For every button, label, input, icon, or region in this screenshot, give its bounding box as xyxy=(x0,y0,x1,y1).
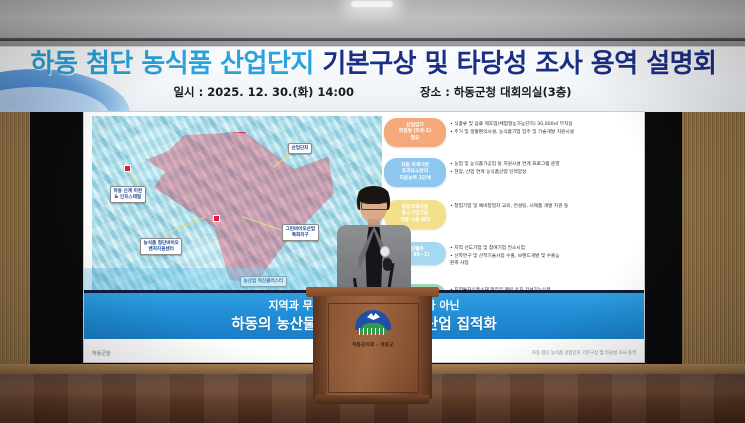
podium: 하동군의회 - 하동군 xyxy=(306,287,439,407)
map-label-2: 그린바이오산업 특화지구 xyxy=(282,224,319,241)
row-bullets: • 식품류 및 음료 제조업(체험형농가능단지) 30,000㎡ 부지용 • 주… xyxy=(450,118,640,136)
map-marker-2 xyxy=(213,215,220,222)
row-bullets: • 지역 선도기업 및 참여기업 컨소시엄 • 산학연구 및 산학기술사업 수출… xyxy=(450,242,640,268)
conference-room-photo: 하동 첨단 농식품 산업단지 기본구상 및 타당성 조사 용역 설명회 일시 :… xyxy=(0,0,745,423)
podium-text: 하동군의회 - 하동군 xyxy=(339,342,407,348)
banner-datetime: 일시 : 2025. 12. 30.(화) 14:00 xyxy=(173,84,354,100)
row-bullets: • 창업기업 및 예비창업자 교육, 컨설팅, 시제품 개발 지원 등 xyxy=(450,200,640,211)
lapel-ribbon xyxy=(381,247,389,256)
row-pill-label: 산업입지 파일럿 (5개-1) 필요 xyxy=(384,118,446,147)
wall-black-panel-right xyxy=(644,112,682,370)
content-row: 창업과제지원 중소기업기술 개발 지원 확대 • 창업기업 및 예비창업자 교육… xyxy=(384,200,640,229)
podium-base xyxy=(316,395,429,404)
podium-side-left xyxy=(313,296,327,399)
microphone-icon xyxy=(383,258,392,271)
footer-logo-text: 하동군청 xyxy=(92,350,110,357)
map-label-1: 하동 신계 미천 & 인프스테밀 xyxy=(110,186,146,203)
ceiling-rail-lower xyxy=(0,43,745,45)
content-row: 혁신벨트 (예시 95~1) • 지역 선도기업 및 참여기업 컨소시엄 • 산… xyxy=(384,242,640,268)
hadong-county-emblem-icon xyxy=(355,310,391,337)
wall-wood-panel-right xyxy=(682,112,745,370)
map-label-3: 농식품 첨단바이오 벤처지원센터 xyxy=(140,238,182,255)
content-row: 지원 외계기반 효과요소관리 지원능력 1단계 • 농업 및 농식품가공업 등 … xyxy=(384,158,640,187)
banner-title: 하동 첨단 농식품 산업단지 기본구상 및 타당성 조사 용역 설명회 xyxy=(0,49,745,79)
ceiling-rail xyxy=(0,38,745,41)
ceiling-light xyxy=(351,1,393,7)
ceiling xyxy=(0,0,745,46)
event-banner: 하동 첨단 농식품 산업단지 기본구상 및 타당성 조사 용역 설명회 일시 :… xyxy=(0,46,745,115)
emblem-rays xyxy=(359,328,387,335)
wall-wood-panel-left xyxy=(0,112,30,370)
footer-right-text: 하동 첨단 농식품 산업단지 기본구상 및 타당성 조사 용역 xyxy=(532,350,636,356)
eyeglasses xyxy=(361,202,388,210)
banner-title-part2: 기본구상 및 타당성 조사 용역 설명회 xyxy=(322,49,716,79)
row-bullets: • 농업 및 농식품가공업 등 지원시설 연계 프로그램 운영 • 현장, 산업… xyxy=(450,158,640,176)
banner-subtitle: 일시 : 2025. 12. 30.(화) 14:00 장소 : 하동군청 대회… xyxy=(0,84,745,100)
banner-venue: 장소 : 하동군청 대회의실(3층) xyxy=(420,84,572,100)
row-pill-label: 지원 외계기반 효과요소관리 지원능력 1단계 xyxy=(384,158,446,187)
content-row: 산업입지 파일럿 (5개-1) 필요 • 식품류 및 음료 제조업(체험형농가능… xyxy=(384,118,640,147)
wall-black-panel-left xyxy=(30,112,84,370)
map-label-main: 산업단지 xyxy=(288,143,312,154)
podium-side-right xyxy=(418,296,432,399)
banner-title-part1: 하동 첨단 농식품 산업단지 xyxy=(31,49,314,79)
